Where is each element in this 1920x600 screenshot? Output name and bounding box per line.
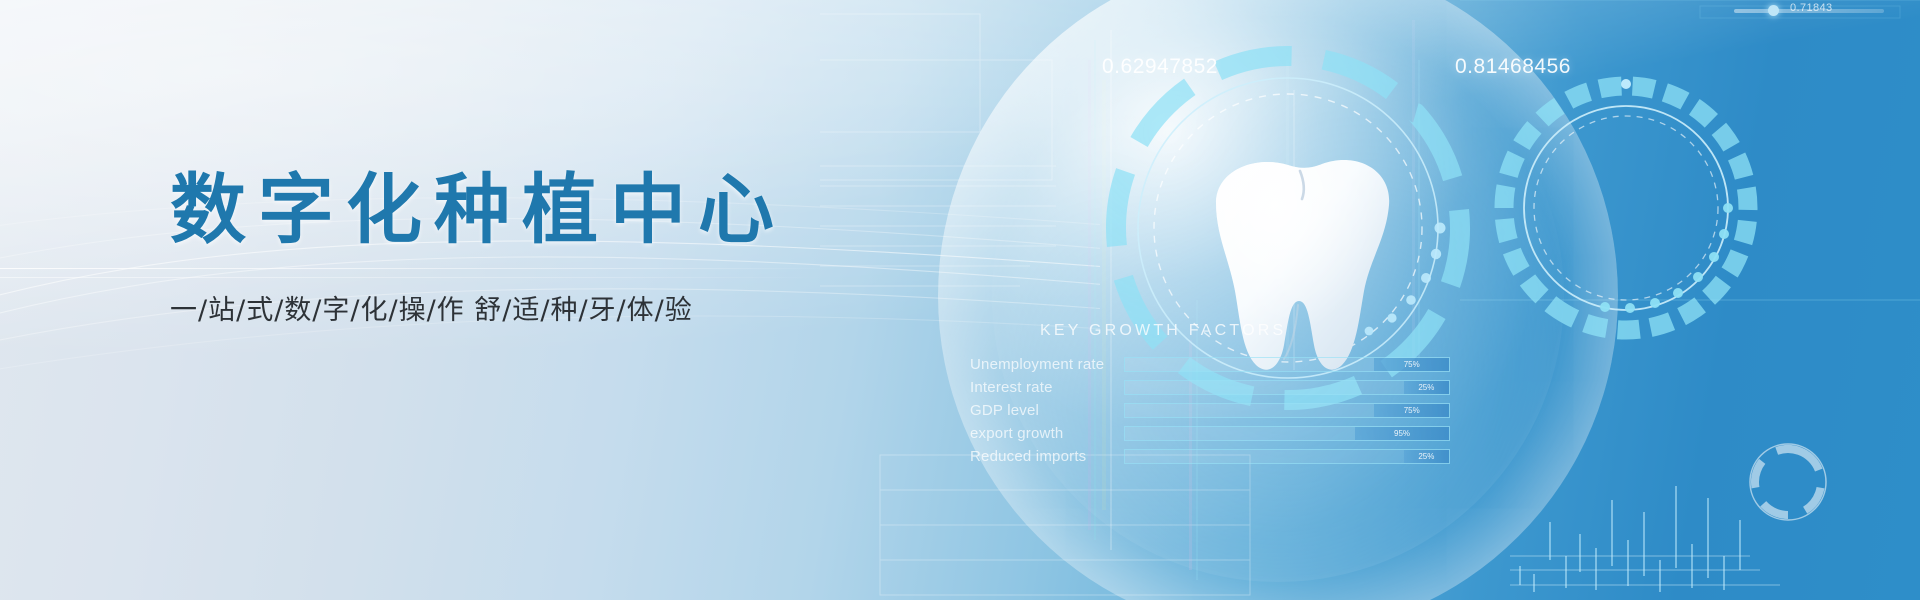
hud-ring-secondary (1476, 58, 1776, 358)
panel-row-label: Reduced imports (970, 448, 1118, 465)
hud-slider-value: 0.71843 (1790, 2, 1833, 14)
panel-row-percent: 25% (1418, 383, 1434, 392)
readout-right: 0.81468456 (1455, 55, 1571, 79)
hud-slider[interactable]: 0.71843 (1734, 4, 1884, 18)
panel-row-bar-fill: 95% (1355, 427, 1449, 440)
panel-rows: Unemployment rate75%Interest rate25%GDP … (970, 354, 1450, 466)
readout-left: 0.62947852 (1102, 55, 1218, 79)
hud-ring-mini (1744, 438, 1832, 526)
panel-row-bar-fill: 25% (1404, 381, 1449, 394)
panel-row-bar: 95% (1124, 426, 1450, 441)
panel-row: GDP level75% (970, 400, 1450, 420)
hero-banner: 数字化种植中心 一/站/式/数/字/化/操/作 舒/适/种/牙/体/验 (0, 0, 1920, 600)
panel-row-label: Unemployment rate (970, 356, 1118, 373)
panel-row-bar: 75% (1124, 403, 1450, 418)
panel-row: Reduced imports25% (970, 446, 1450, 466)
panel-row-percent: 25% (1418, 452, 1434, 461)
panel-row-bar-fill: 75% (1374, 358, 1449, 371)
panel-row-percent: 75% (1404, 406, 1420, 415)
page-subtitle: 一/站/式/数/字/化/操/作 舒/适/种/牙/体/验 (170, 288, 786, 327)
panel-row-bar: 25% (1124, 449, 1450, 464)
panel-row-label: GDP level (970, 402, 1118, 419)
panel-row-label: Interest rate (970, 379, 1118, 396)
panel-row-bar-fill: 25% (1404, 450, 1449, 463)
tech-visual-panel: 0.62947852 0.81468456 0.71843 KEY GROWTH… (820, 0, 1920, 600)
panel-row-percent: 75% (1404, 360, 1420, 369)
panel-row: Unemployment rate75% (970, 354, 1450, 374)
hud-slider-knob[interactable] (1768, 5, 1779, 16)
panel-row: Interest rate25% (970, 377, 1450, 397)
panel-row: export growth95% (970, 423, 1450, 443)
panel-row-bar-fill: 75% (1374, 404, 1449, 417)
panel-row-label: export growth (970, 425, 1118, 442)
headline-block: 数字化种植中心 一/站/式/数/字/化/操/作 舒/适/种/牙/体/验 (170, 172, 786, 327)
panel-title: KEY GROWTH FACTORS (1040, 322, 1450, 340)
page-title: 数字化种植中心 (170, 172, 786, 248)
panel-row-percent: 95% (1394, 429, 1410, 438)
key-growth-factors-panel: KEY GROWTH FACTORS Unemployment rate75%I… (970, 322, 1450, 469)
panel-row-bar: 25% (1124, 380, 1450, 395)
panel-row-bar: 75% (1124, 357, 1450, 372)
